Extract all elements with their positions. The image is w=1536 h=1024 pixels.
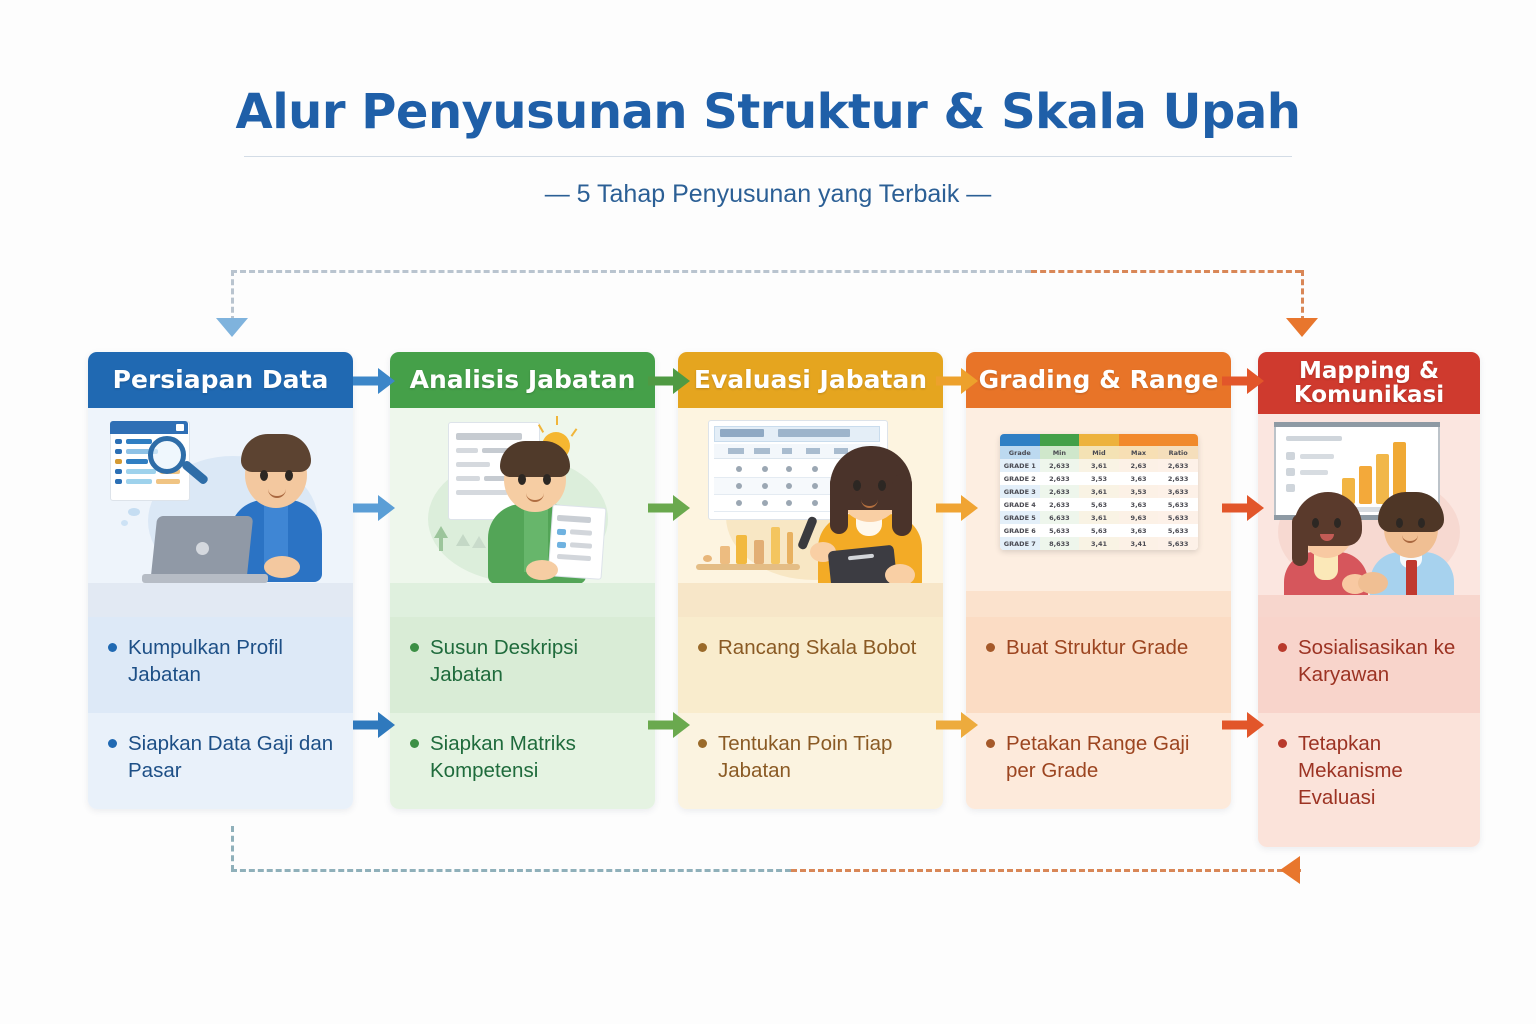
grade-table-cell: 2,633: [1040, 459, 1080, 472]
step-header-4: Grading & Range: [966, 352, 1231, 408]
connector-arrow-4-mid: [1222, 495, 1264, 521]
bullet-dot: [410, 643, 419, 652]
grade-range-table: GradeMinMidMaxRatio GRADE 12,6333,612,63…: [1000, 434, 1198, 550]
bullet-text: Sosialisasikan ke Karyawan: [1298, 634, 1464, 696]
grade-table-cell: 2,633: [1040, 472, 1080, 485]
grade-table-cell: 3,41: [1079, 537, 1119, 550]
step-header-2: Analisis Jabatan: [390, 352, 655, 408]
grade-table-cell: 5,633: [1040, 524, 1080, 537]
loop-top-left-arrowhead: [216, 318, 248, 337]
bullet-text: Tentukan Poin Tiap Jabatan: [718, 730, 927, 792]
connector-arrow-2-top: [648, 368, 690, 394]
bullet-item: Susun Deskripsi Jabatan: [390, 617, 655, 713]
bullet-text: Siapkan Matriks Kompetensi: [430, 730, 639, 792]
page-title: Alur Penyusunan Struktur & Skala Upah: [0, 84, 1536, 140]
grade-table-column-header: Mid: [1079, 446, 1119, 459]
step-card-evaluasi-jabatan[interactable]: Evaluasi Jabatan: [678, 352, 943, 809]
bullet-dot: [1278, 643, 1287, 652]
loop-top-right-arrowhead: [1286, 318, 1318, 337]
grade-table-cell: 3,633: [1158, 485, 1198, 498]
grade-table-cell: GRADE 6: [1000, 524, 1040, 537]
bullet-dot: [108, 739, 117, 748]
grade-table-row: GRADE 32,6333,613,533,633: [1000, 485, 1198, 498]
grade-table-cell: 5,633: [1158, 524, 1198, 537]
bullet-text: Rancang Skala Bobot: [718, 634, 927, 696]
connector-arrow-1-top: [353, 368, 395, 394]
bullet-dot: [698, 739, 707, 748]
grade-table-column-header: Grade: [1000, 446, 1040, 459]
connector-arrow-2-bottom: [648, 712, 690, 738]
grade-table-cell: 5,63: [1079, 524, 1119, 537]
grade-table-cell: 9,63: [1119, 511, 1159, 524]
grade-table-cell: 3,61: [1079, 485, 1119, 498]
grade-table-cell: 2,633: [1040, 485, 1080, 498]
step-illustration-1: [88, 408, 353, 617]
bullet-dot: [410, 739, 419, 748]
connector-arrow-3-mid: [936, 495, 978, 521]
grade-table-cell: 2,63: [1119, 459, 1159, 472]
bullet-item: Rancang Skala Bobot: [678, 617, 943, 713]
grade-table-column-header: Max: [1119, 446, 1159, 459]
grade-table-cell: 3,63: [1119, 524, 1159, 537]
step-illustration-5: [1258, 414, 1480, 617]
connector-arrow-3-bottom: [936, 712, 978, 738]
grade-table-cell: GRADE 2: [1000, 472, 1040, 485]
bullet-text: Petakan Range Gaji per Grade: [1006, 730, 1215, 792]
grade-table-body: GRADE 12,6333,612,632,633GRADE 22,6333,5…: [1000, 459, 1198, 550]
bullet-item: Tentukan Poin Tiap Jabatan: [678, 713, 943, 809]
step-bullets-1: Kumpulkan Profil Jabatan Siapkan Data Ga…: [88, 617, 353, 809]
grade-table-cell: GRADE 3: [1000, 485, 1040, 498]
bullet-item: Kumpulkan Profil Jabatan: [88, 617, 353, 713]
grade-table-header-row: GradeMinMidMaxRatio: [1000, 446, 1198, 459]
grade-table-cell: GRADE 1: [1000, 459, 1040, 472]
grade-table-row: GRADE 22,6333,533,632,633: [1000, 472, 1198, 485]
grade-table-cell: 3,41: [1119, 537, 1159, 550]
grade-table-cell: 8,633: [1040, 537, 1080, 550]
grade-table-cell: GRADE 4: [1000, 498, 1040, 511]
bullet-item: Siapkan Matriks Kompetensi: [390, 713, 655, 809]
grade-table-row: GRADE 78,6333,413,415,633: [1000, 537, 1198, 550]
step-header-3: Evaluasi Jabatan: [678, 352, 943, 408]
grade-table-column-header: Min: [1040, 446, 1080, 459]
grade-table-cell: 3,61: [1079, 459, 1119, 472]
grade-table-cell: GRADE 5: [1000, 511, 1040, 524]
step-card-persiapan-data[interactable]: Persiapan Data: [88, 352, 353, 809]
bullet-item: Tetapkan Mekanisme Evaluasi: [1258, 713, 1480, 847]
bullet-text: Susun Deskripsi Jabatan: [430, 634, 639, 696]
step-illustration-2: [390, 408, 655, 617]
step-card-analisis-jabatan[interactable]: Analisis Jabatan: [390, 352, 655, 809]
bullet-text: Tetapkan Mekanisme Evaluasi: [1298, 730, 1464, 830]
bullet-text: Buat Struktur Grade: [1006, 634, 1215, 696]
connector-arrow-2-mid: [648, 495, 690, 521]
grade-table-cell: 3,61: [1079, 511, 1119, 524]
grade-table-cell: 5,633: [1158, 498, 1198, 511]
grade-table-row: GRADE 42,6335,633,635,633: [1000, 498, 1198, 511]
bullet-dot: [1278, 739, 1287, 748]
grade-table-cell: 2,633: [1040, 498, 1080, 511]
grade-table-cell: 3,63: [1119, 498, 1159, 511]
step-bullets-2: Susun Deskripsi Jabatan Siapkan Matriks …: [390, 617, 655, 809]
grade-table-row: GRADE 12,6333,612,632,633: [1000, 459, 1198, 472]
bullet-text: Kumpulkan Profil Jabatan: [128, 634, 337, 696]
bullet-dot: [986, 643, 995, 652]
step-header-1: Persiapan Data: [88, 352, 353, 408]
step-card-grading-range[interactable]: Grading & Range GradeMinMidMaxRatio GRAD…: [966, 352, 1231, 809]
step-bullets-5: Sosialisasikan ke Karyawan Tetapkan Meka…: [1258, 617, 1480, 847]
bullet-item: Buat Struktur Grade: [966, 617, 1231, 713]
bullet-dot: [986, 739, 995, 748]
page-subtitle: — 5 Tahap Penyusunan yang Terbaik —: [0, 180, 1536, 209]
bullet-dot: [698, 643, 707, 652]
grade-table-cell: GRADE 7: [1000, 537, 1040, 550]
infographic-root: Alur Penyusunan Struktur & Skala Upah — …: [0, 0, 1536, 1024]
step-bullets-3: Rancang Skala Bobot Tentukan Poin Tiap J…: [678, 617, 943, 809]
grade-table-cell: 3,63: [1119, 472, 1159, 485]
grade-table-cell: 5,633: [1158, 537, 1198, 550]
grade-table-cell: 5,63: [1079, 498, 1119, 511]
step-header-5: Mapping & Komunikasi: [1258, 352, 1480, 414]
grade-table-cell: 2,633: [1158, 459, 1198, 472]
connector-arrow-3-top: [936, 368, 978, 394]
bullet-item: Petakan Range Gaji per Grade: [966, 713, 1231, 809]
bullet-dot: [108, 643, 117, 652]
connector-arrow-1-bottom: [353, 712, 395, 738]
grade-table-cell: 5,633: [1158, 511, 1198, 524]
grade-table-cell: 3,53: [1079, 472, 1119, 485]
bullet-item: Sosialisasikan ke Karyawan: [1258, 617, 1480, 713]
connector-arrow-4-top: [1222, 368, 1264, 394]
grade-table-cell: 6,633: [1040, 511, 1080, 524]
grade-table-colorbar: [1000, 434, 1198, 446]
step-card-mapping-komunikasi[interactable]: Mapping & Komunikasi: [1258, 352, 1480, 847]
step-bullets-4: Buat Struktur Grade Petakan Range Gaji p…: [966, 617, 1231, 809]
step-illustration-3: [678, 408, 943, 617]
connector-arrow-4-bottom: [1222, 712, 1264, 738]
grade-table-cell: 3,53: [1119, 485, 1159, 498]
loop-bottom-arrowhead: [1280, 856, 1300, 884]
step-illustration-4: GradeMinMidMaxRatio GRADE 12,6333,612,63…: [966, 408, 1231, 617]
bullet-item: Siapkan Data Gaji dan Pasar: [88, 713, 353, 809]
connector-arrow-1-mid: [353, 495, 395, 521]
grade-table-row: GRADE 56,6333,619,635,633: [1000, 511, 1198, 524]
grade-table-row: GRADE 65,6335,633,635,633: [1000, 524, 1198, 537]
title-divider: [244, 156, 1292, 157]
bullet-text: Siapkan Data Gaji dan Pasar: [128, 730, 337, 792]
grade-table-cell: 2,633: [1158, 472, 1198, 485]
grade-table-column-header: Ratio: [1158, 446, 1198, 459]
